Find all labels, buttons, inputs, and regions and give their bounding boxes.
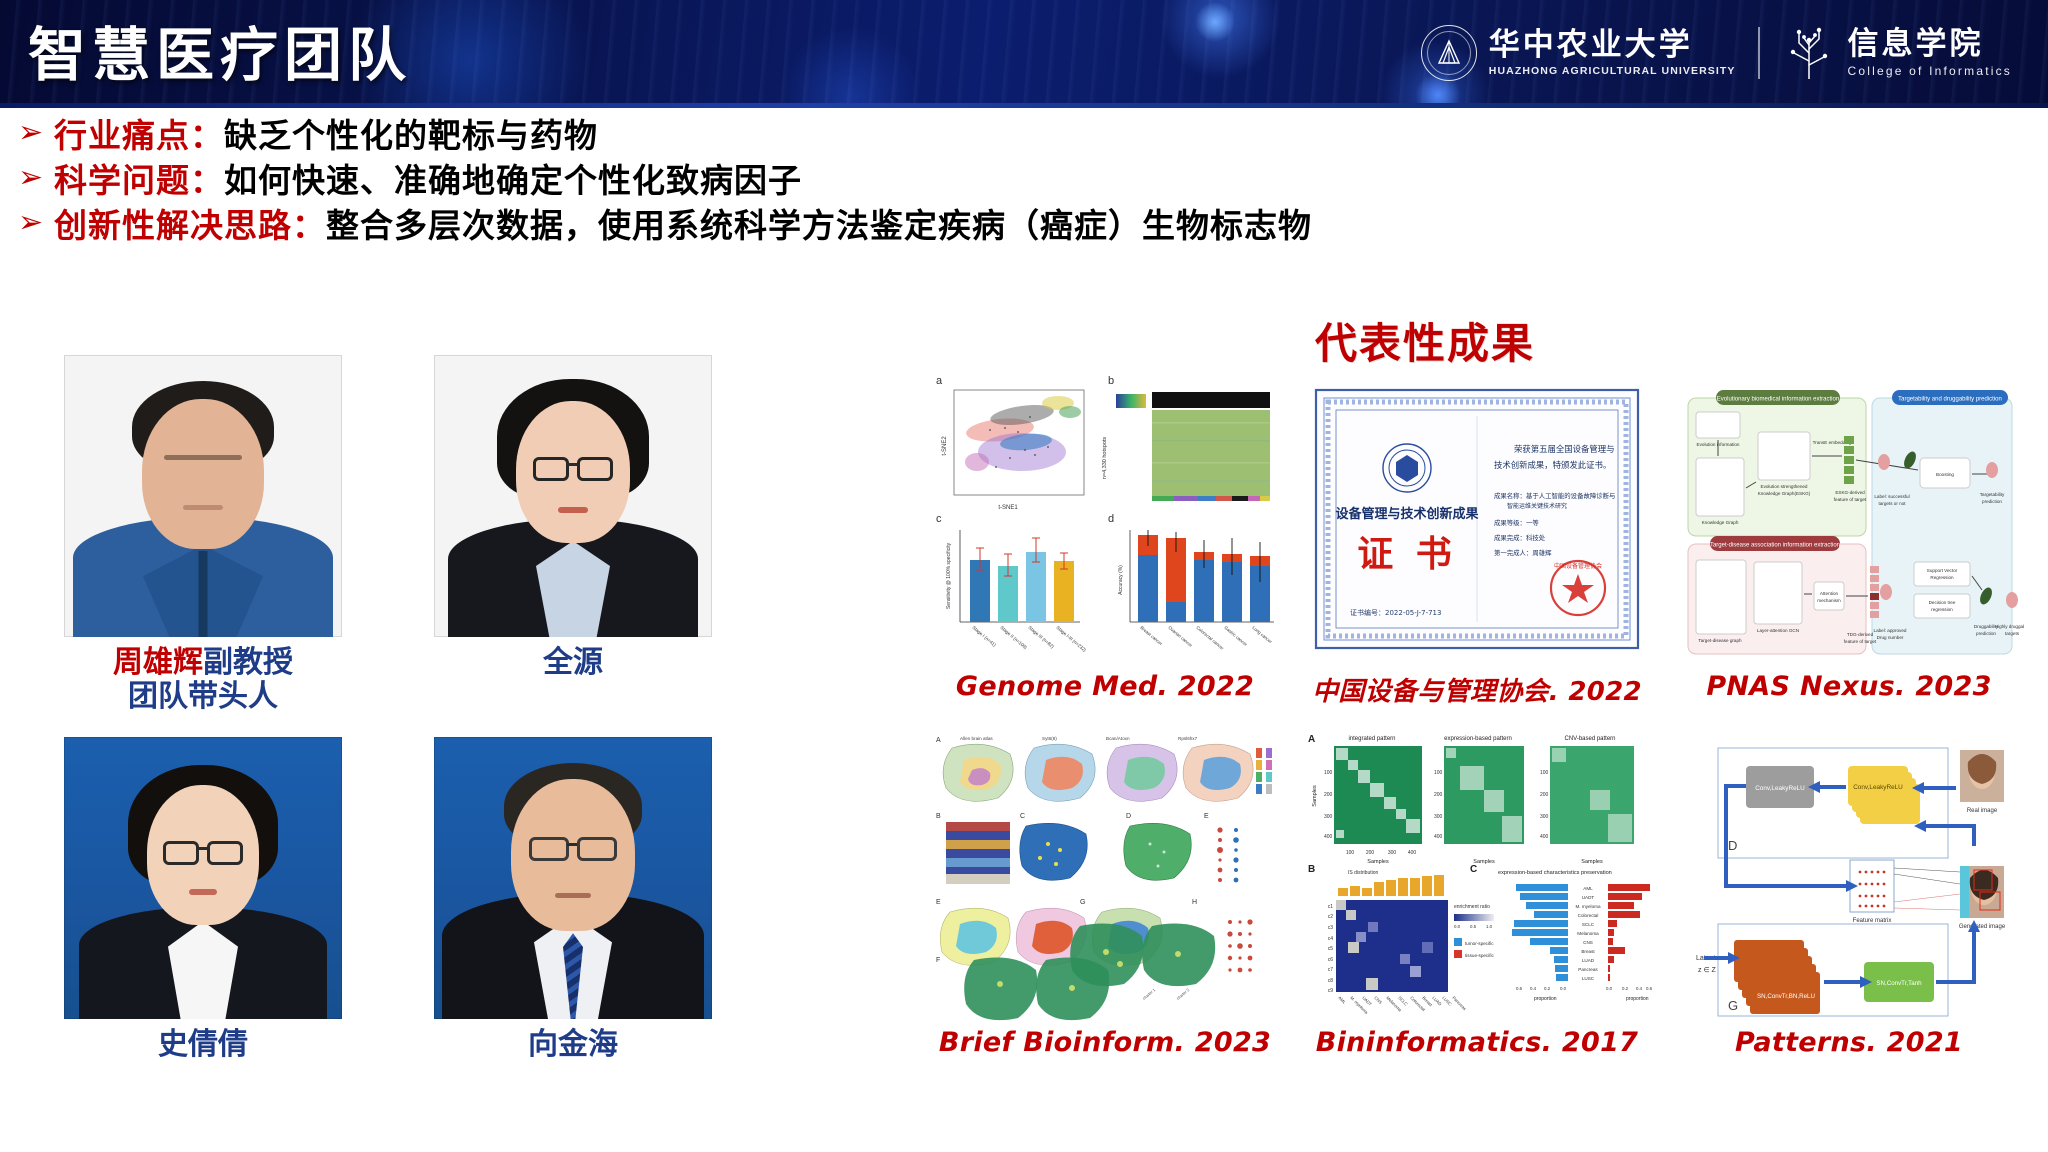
svg-text:feature of target: feature of target — [1844, 639, 1877, 644]
team-member-label: 向金海 — [528, 1028, 618, 1062]
svg-text:H: H — [1192, 899, 1197, 906]
svg-text:D: D — [1126, 813, 1131, 820]
member-name: 史倩倩 — [158, 1027, 248, 1062]
svg-text:0.4: 0.4 — [1530, 986, 1537, 991]
svg-text:Conv,LeakyReLU: Conv,LeakyReLU — [1755, 785, 1805, 792]
svg-text:智能运维关键技术研究: 智能运维关键技术研究 — [1507, 502, 1567, 510]
svg-text:0.0: 0.0 — [1606, 986, 1613, 991]
svg-text:0.2: 0.2 — [1622, 986, 1629, 991]
svg-text:C: C — [1020, 813, 1025, 820]
logo-hzau: 华中农业大学 HUAZHONG AGRICULTURAL UNIVERSITY — [1421, 25, 1736, 81]
svg-text:Sensitivity @ 100% specificity: Sensitivity @ 100% specificity — [946, 542, 952, 609]
svg-text:expression-based pattern: expression-based pattern — [1444, 736, 1512, 742]
bullet-key: 创新性解决思路： — [54, 199, 326, 247]
slide-header: 智慧医疗团队 华中农业大学 HUAZHONG AGRICULTURAL UNIV… — [0, 0, 2048, 108]
figure-spatial-omics-panels: ABC DE EFGH Allen brain atlasSyt6(8) Bca… — [930, 726, 1280, 1021]
logo-hzau-cn: 华中农业大学 — [1489, 30, 1693, 61]
logo-hzau-en: HUAZHONG AGRICULTURAL UNIVERSITY — [1489, 66, 1736, 77]
svg-text:Boosting: Boosting — [1936, 472, 1954, 477]
logo-informatics: 信息学院 College of Informatics — [1782, 23, 2012, 84]
achievements-row-2: ABC DE EFGH Allen brain atlasSyt6(8) Bca… — [930, 726, 2040, 1058]
svg-text:0.2: 0.2 — [1544, 986, 1551, 991]
svg-text:C: C — [1470, 864, 1477, 875]
figure-multi-panel-tsne-heatmap-barcharts: a b c d — [930, 370, 1280, 665]
svg-text:d: d — [1108, 513, 1114, 525]
svg-text:Label: approved: Label: approved — [1874, 628, 1907, 633]
avatar — [64, 355, 342, 637]
svg-text:200: 200 — [1366, 850, 1375, 856]
svg-text:Samples: Samples — [1312, 785, 1318, 807]
bullet-arrow-icon: ➢ — [18, 208, 54, 238]
svg-text:TDG-derived: TDG-derived — [1847, 632, 1874, 637]
svg-text:100: 100 — [1346, 850, 1355, 856]
svg-text:SN,ConvTr,Tanh: SN,ConvTr,Tanh — [1876, 980, 1922, 987]
bullet-value: 如何快速、准确地确定个性化致病因子 — [224, 154, 802, 202]
page-title: 智慧医疗团队 — [28, 8, 412, 92]
university-crest-icon — [1421, 25, 1477, 81]
svg-text:成果完成：科技处: 成果完成：科技处 — [1494, 533, 1546, 542]
svg-text:400: 400 — [1434, 834, 1443, 840]
achievement-caption: Genome Med. 2022 — [930, 671, 1280, 702]
svg-text:b: b — [1108, 375, 1114, 387]
svg-text:t-SNE2: t-SNE2 — [942, 436, 948, 456]
bullet-arrow-icon: ➢ — [18, 118, 54, 148]
team-row-1: 周雄辉副教授 团队带头人 全源 — [18, 355, 758, 713]
svg-text:中国设备管理协会: 中国设备管理协会 — [1554, 562, 1602, 570]
svg-text:integrated pattern: integrated pattern — [1348, 736, 1395, 742]
figure-similarity-heatmaps-and-bars: A B C integrated pattern expression-base… — [1302, 726, 1652, 1021]
bullet-key: 行业痛点： — [54, 109, 224, 157]
figure-pipeline-diagram: Evolutionary biomedical information extr… — [1674, 370, 2024, 665]
achievement-pnas-nexus: Evolutionary biomedical information extr… — [1674, 370, 2024, 708]
svg-text:200: 200 — [1434, 792, 1443, 798]
svg-text:Knowledge Graph(ESKG): Knowledge Graph(ESKG) — [1758, 491, 1811, 496]
svg-text:证 书: 证 书 — [1357, 534, 1457, 575]
svg-text:100: 100 — [1324, 770, 1333, 776]
team-member-label: 史倩倩 — [158, 1028, 248, 1062]
svg-text:Breast: Breast — [1581, 949, 1595, 954]
svg-text:B: B — [936, 813, 941, 820]
team-member-xiangjinhai: 向金海 — [388, 737, 758, 1062]
svg-text:D: D — [1728, 838, 1737, 853]
svg-text:F: F — [936, 957, 940, 964]
svg-text:proportion: proportion — [1534, 996, 1557, 1002]
svg-text:荣获第五届全国设备管理与: 荣获第五届全国设备管理与 — [1514, 444, 1615, 454]
svg-text:Support Vector: Support Vector — [1927, 568, 1958, 573]
svg-text:Feature matrix: Feature matrix — [1853, 918, 1892, 924]
svg-text:300: 300 — [1540, 814, 1549, 820]
svg-text:c6: c6 — [1328, 957, 1334, 963]
svg-text:regression: regression — [1931, 607, 1953, 612]
achievement-genome-med: a b c d — [930, 370, 1280, 708]
achievements-row-1: a b c d — [930, 370, 2040, 708]
svg-text:Attention: Attention — [1820, 591, 1839, 596]
svg-text:proportion: proportion — [1626, 996, 1649, 1002]
svg-text:LUSC: LUSC — [1582, 976, 1595, 981]
svg-text:a: a — [936, 375, 943, 387]
bullet-key: 科学问题： — [54, 154, 224, 202]
svg-text:Highly druggable: Highly druggable — [1995, 624, 2024, 629]
bullet-value: 缺乏个性化的靶标与药物 — [224, 109, 598, 157]
svg-text:Bcan/Atoxn: Bcan/Atoxn — [1106, 736, 1130, 741]
figure-gan-architecture: D G Conv,LeakyReLU Conv,LeakyReLU R — [1674, 726, 2024, 1021]
bullet-item-solution: ➢ 创新性解决思路： 整合多层次数据，使用系统科学方法鉴定疾病（癌症）生物标志物 — [0, 200, 2048, 245]
achievement-caption: Patterns. 2021 — [1674, 1027, 2024, 1058]
member-title: 副教授 — [203, 645, 293, 680]
svg-text:AML: AML — [1583, 886, 1593, 891]
bullet-value: 整合多层次数据，使用系统科学方法鉴定疾病（癌症）生物标志物 — [326, 199, 1312, 247]
svg-text:z ∈ Z: z ∈ Z — [1698, 967, 1716, 974]
bullet-arrow-icon: ➢ — [18, 163, 54, 193]
svg-text:Decision tree: Decision tree — [1929, 600, 1956, 605]
avatar — [434, 355, 712, 637]
svg-text:成果等级：一等: 成果等级：一等 — [1494, 518, 1539, 527]
svg-text:Knowledge Graph: Knowledge Graph — [1702, 520, 1739, 525]
svg-text:设备管理与技术创新成果: 设备管理与技术创新成果 — [1335, 506, 1478, 522]
svg-text:300: 300 — [1434, 814, 1443, 820]
svg-text:targets: targets — [2005, 631, 2020, 636]
bullet-list: ➢ 行业痛点： 缺乏个性化的靶标与药物 ➢ 科学问题： 如何快速、准确地确定个性… — [0, 110, 2048, 245]
svg-text:Samples: Samples — [1581, 859, 1603, 865]
svg-text:SN,ConvTr,BN,ReLU: SN,ConvTr,BN,ReLU — [1757, 993, 1815, 1000]
achievement-caption: PNAS Nexus. 2023 — [1674, 671, 2024, 702]
svg-text:400: 400 — [1540, 834, 1549, 840]
svg-text:Rpsl6hx7: Rpsl6hx7 — [1178, 736, 1198, 741]
svg-text:Target-disease graph: Target-disease graph — [1698, 638, 1742, 643]
svg-text:证书编号：2022-05-J-7-713: 证书编号：2022-05-J-7-713 — [1350, 608, 1441, 617]
team-member-zhouxionghui: 周雄辉副教授 团队带头人 — [18, 355, 388, 713]
svg-text:A: A — [1308, 734, 1315, 745]
svg-text:c2: c2 — [1328, 914, 1334, 920]
svg-text:mechanism: mechanism — [1817, 598, 1841, 603]
team-member-quanyuan: 全源 — [388, 355, 758, 713]
achievement-patterns: D G Conv,LeakyReLU Conv,LeakyReLU R — [1674, 726, 2024, 1058]
logo-divider — [1758, 27, 1760, 79]
svg-text:c5: c5 — [1328, 946, 1334, 952]
svg-text:B: B — [1308, 864, 1315, 875]
achievement-caption: Brief Bioinform. 2023 — [930, 1027, 1280, 1058]
bullet-item-scientific-question: ➢ 科学问题： 如何快速、准确地确定个性化致病因子 — [0, 155, 2048, 200]
svg-text:tumor-specific: tumor-specific — [1465, 941, 1494, 946]
circuit-tree-icon — [1782, 23, 1836, 84]
svg-text:UADT: UADT — [1582, 895, 1595, 900]
svg-text:300: 300 — [1388, 850, 1397, 856]
svg-text:A: A — [936, 737, 941, 744]
avatar — [434, 737, 712, 1019]
svg-text:c9: c9 — [1328, 988, 1334, 994]
member-name: 全源 — [543, 645, 603, 680]
svg-text:c: c — [936, 513, 942, 525]
svg-text:1.0: 1.0 — [1486, 924, 1493, 929]
svg-text:n=4,330 hotspots: n=4,330 hotspots — [1102, 437, 1108, 480]
svg-text:c3: c3 — [1328, 925, 1334, 931]
svg-text:Conv,LeakyReLU: Conv,LeakyReLU — [1853, 784, 1903, 791]
svg-text:Melanoma: Melanoma — [1577, 931, 1599, 936]
svg-text:100: 100 — [1540, 770, 1549, 776]
svg-text:CNV-based pattern: CNV-based pattern — [1564, 736, 1615, 742]
achievement-caption: Bininformatics. 2017 — [1302, 1027, 1652, 1058]
svg-text:Colorectal: Colorectal — [1578, 913, 1599, 918]
svg-text:Evolutionary biomedical inform: Evolutionary biomedical information extr… — [1717, 397, 1839, 403]
svg-text:成果名称：基于人工智能的设备故障诊断与: 成果名称：基于人工智能的设备故障诊断与 — [1494, 491, 1615, 500]
achievement-certificate: 设备管理与技术创新成果 证 书 证书编号：2022-05-J-7-713 荣获第… — [1302, 370, 1652, 708]
svg-text:第一完成人：周雄辉: 第一完成人：周雄辉 — [1494, 548, 1552, 557]
figure-certificate: 设备管理与技术创新成果 证 书 证书编号：2022-05-J-7-713 荣获第… — [1302, 370, 1652, 665]
svg-text:0.4: 0.4 — [1636, 986, 1643, 991]
svg-text:G: G — [1728, 998, 1738, 1013]
svg-text:G: G — [1080, 899, 1085, 906]
achievement-brief-bioinform: ABC DE EFGH Allen brain atlasSyt6(8) Bca… — [930, 726, 1280, 1058]
achievement-bininformatics: A B C integrated pattern expression-base… — [1302, 726, 1652, 1058]
slide-root: 智慧医疗团队 华中农业大学 HUAZHONG AGRICULTURAL UNIV… — [0, 0, 2048, 1152]
svg-text:Pancreas: Pancreas — [1578, 967, 1598, 972]
svg-text:t-SNE1: t-SNE1 — [998, 505, 1018, 511]
svg-text:c8: c8 — [1328, 978, 1334, 984]
svg-text:Drug number: Drug number — [1877, 635, 1904, 640]
svg-text:c4: c4 — [1328, 936, 1334, 942]
svg-text:0.0: 0.0 — [1560, 986, 1567, 991]
logo-informatics-cn: 信息学院 — [1848, 29, 1984, 60]
svg-text:Samples: Samples — [1473, 859, 1495, 865]
svg-text:Syt6(8): Syt6(8) — [1042, 736, 1057, 741]
member-role: 团队带头人 — [113, 680, 293, 714]
svg-text:Targetability: Targetability — [1980, 492, 2005, 497]
svg-text:E: E — [1204, 813, 1209, 820]
svg-text:300: 300 — [1324, 814, 1333, 820]
svg-text:0.6: 0.6 — [1646, 986, 1652, 991]
svg-text:技术创新成果，特颁发此证书。: 技术创新成果，特颁发此证书。 — [1494, 460, 1611, 470]
svg-text:targets or not: targets or not — [1878, 501, 1906, 506]
svg-text:0.5: 0.5 — [1470, 924, 1477, 929]
svg-text:Accuracy (%): Accuracy (%) — [1118, 565, 1124, 595]
member-name: 周雄辉 — [113, 645, 203, 680]
svg-text:400: 400 — [1408, 850, 1417, 856]
svg-text:Allen brain atlas: Allen brain atlas — [960, 736, 993, 741]
svg-text:expression-based characteristi: expression-based characteristics preserv… — [1498, 870, 1612, 876]
svg-text:ESKG-derived: ESKG-derived — [1835, 490, 1865, 495]
member-name: 向金海 — [528, 1027, 618, 1062]
svg-text:Targetability and druggability: Targetability and druggability predictio… — [1898, 397, 2002, 403]
svg-text:feature of target: feature of target — [1834, 497, 1867, 502]
svg-text:Label: successful: Label: successful — [1874, 494, 1909, 499]
achievements-grid: a b c d — [930, 370, 2040, 1076]
svg-text:0.6: 0.6 — [1516, 986, 1523, 991]
svg-text:Layer-attention GCN: Layer-attention GCN — [1757, 628, 1799, 633]
svg-text:M. myeloma: M. myeloma — [1575, 904, 1600, 909]
svg-text:200: 200 — [1540, 792, 1549, 798]
svg-text:c7: c7 — [1328, 967, 1334, 973]
svg-text:Evolution strengthened: Evolution strengthened — [1761, 484, 1808, 489]
avatar — [64, 737, 342, 1019]
team-member-shiqianqian: 史倩倩 — [18, 737, 388, 1062]
svg-text:IS distribution: IS distribution — [1348, 870, 1379, 876]
svg-text:enrichment ratio: enrichment ratio — [1454, 904, 1490, 910]
bullet-item-pain-point: ➢ 行业痛点： 缺乏个性化的靶标与药物 — [0, 110, 2048, 155]
svg-text:Real image: Real image — [1967, 808, 1998, 814]
svg-text:prediction: prediction — [1976, 631, 1996, 636]
logo-informatics-en: College of Informatics — [1848, 65, 2012, 77]
team-member-grid: 周雄辉副教授 团队带头人 全源 — [18, 355, 758, 1062]
svg-text:SCLC: SCLC — [1582, 922, 1595, 927]
header-logos: 华中农业大学 HUAZHONG AGRICULTURAL UNIVERSITY — [1421, 14, 2012, 92]
svg-text:Samples: Samples — [1367, 859, 1389, 865]
svg-text:400: 400 — [1324, 834, 1333, 840]
team-member-label: 全源 — [543, 646, 603, 680]
team-row-2: 史倩倩 向金海 — [18, 737, 758, 1062]
header-bottom-bar — [0, 103, 2048, 108]
svg-text:0.0: 0.0 — [1454, 924, 1461, 929]
header-glow-dot-left — [1195, 2, 1235, 42]
svg-text:Target-disease association inf: Target-disease association information e… — [1710, 543, 1840, 549]
svg-text:100: 100 — [1434, 770, 1443, 776]
svg-text:LUAD: LUAD — [1582, 958, 1595, 963]
svg-text:E: E — [936, 899, 941, 906]
svg-text:Generated image: Generated image — [1959, 924, 2006, 930]
svg-text:prediction: prediction — [1982, 499, 2002, 504]
achievements-title: 代表性成果 — [1315, 310, 1535, 371]
svg-text:200: 200 — [1324, 792, 1333, 798]
team-member-label: 周雄辉副教授 团队带头人 — [113, 646, 293, 713]
svg-text:CNS: CNS — [1583, 940, 1593, 945]
svg-text:Regression: Regression — [1930, 575, 1954, 580]
achievement-caption: 中国设备与管理协会. 2022 — [1302, 671, 1652, 708]
svg-text:tissue-specific: tissue-specific — [1465, 953, 1495, 958]
svg-text:c1: c1 — [1328, 904, 1334, 910]
